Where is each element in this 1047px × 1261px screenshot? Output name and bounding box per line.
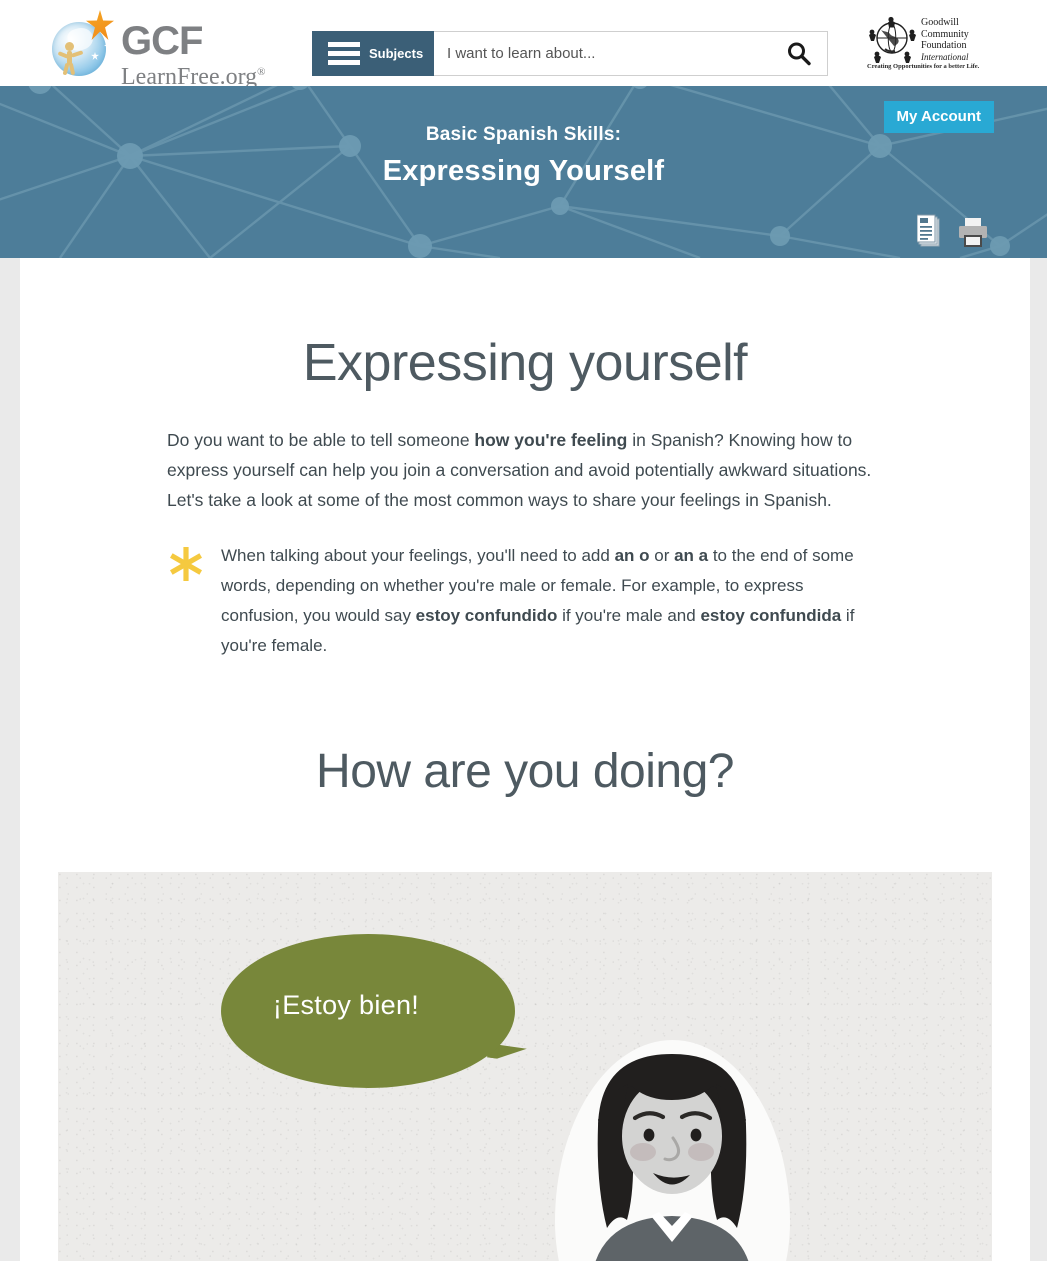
partner-line-international: International: [921, 52, 969, 64]
gcf-learnfree-logo[interactable]: GCF LearnFree.org®: [46, 8, 286, 80]
partner-line-goodwill: Goodwill: [921, 17, 969, 29]
logo-person-icon: [58, 42, 84, 74]
partner-logo-tagline: Creating Opportunities for a better Life…: [867, 63, 979, 70]
callout-part4: if you're male and: [557, 606, 700, 625]
callout-bold2: an a: [674, 546, 708, 565]
callout-part1: When talking about your feelings, you'll…: [221, 546, 615, 565]
search-icon: [786, 41, 812, 67]
main-content: Expressing yourself Do you want to be ab…: [20, 258, 1030, 1261]
partner-logo-wordmark: Goodwill Community Foundation Internatio…: [921, 17, 969, 63]
goodwill-community-foundation-logo[interactable]: Goodwill Community Foundation Internatio…: [865, 16, 983, 74]
globe-with-people-icon: [865, 16, 921, 64]
hero-tool-icons: [917, 214, 989, 253]
hamburger-menu-icon: [328, 42, 360, 65]
asterisk-icon: [167, 545, 205, 583]
logo-wordmark: GCF LearnFree.org®: [121, 22, 266, 89]
search-field-wrapper: [434, 31, 828, 76]
callout-bold1: an o: [615, 546, 650, 565]
partner-line-community: Community: [921, 29, 969, 41]
my-account-button[interactable]: My Account: [884, 101, 994, 133]
callout-tip: When talking about your feelings, you'll…: [167, 541, 883, 661]
article-body: Do you want to be able to tell someone h…: [167, 393, 883, 799]
woman-speech-bubble-illustration: ¡Estoy bien!: [58, 872, 992, 1261]
subjects-button-label: Subjects: [369, 46, 423, 61]
callout-part2: or: [650, 546, 675, 565]
illustration-texture: [58, 872, 992, 1261]
callout-bold3: estoy confundido: [416, 606, 558, 625]
speech-bubble: ¡Estoy bien!: [221, 934, 515, 1088]
search-input[interactable]: [434, 44, 771, 63]
callout-bold4: estoy confundida: [700, 606, 841, 625]
site-header: GCF LearnFree.org® Subjects: [0, 0, 1047, 86]
logo-gcf-text: GCF: [121, 22, 266, 60]
search-submit-button[interactable]: [771, 40, 827, 68]
subjects-button[interactable]: Subjects: [312, 31, 434, 76]
search-area: Subjects: [312, 31, 828, 76]
pages-document-icon[interactable]: [917, 214, 943, 253]
intro-part1: Do you want to be able to tell someone: [167, 430, 474, 450]
section-title: How are you doing?: [167, 661, 883, 799]
page-title: Expressing yourself: [20, 258, 1030, 393]
partner-line-foundation: Foundation: [921, 40, 969, 52]
intro-bold1: how you're feeling: [474, 430, 627, 450]
printer-icon[interactable]: [957, 216, 989, 253]
callout-text: When talking about your feelings, you'll…: [221, 541, 881, 661]
logo-learnfree-text: LearnFree.org®: [121, 60, 266, 89]
intro-paragraph: Do you want to be able to tell someone h…: [167, 425, 883, 515]
hero-banner: Basic Spanish Skills: Expressing Yoursel…: [0, 86, 1047, 258]
page-root: GCF LearnFree.org® Subjects: [0, 0, 1047, 1261]
speech-bubble-text: ¡Estoy bien!: [273, 990, 419, 1021]
woman-figure: [555, 1040, 790, 1261]
